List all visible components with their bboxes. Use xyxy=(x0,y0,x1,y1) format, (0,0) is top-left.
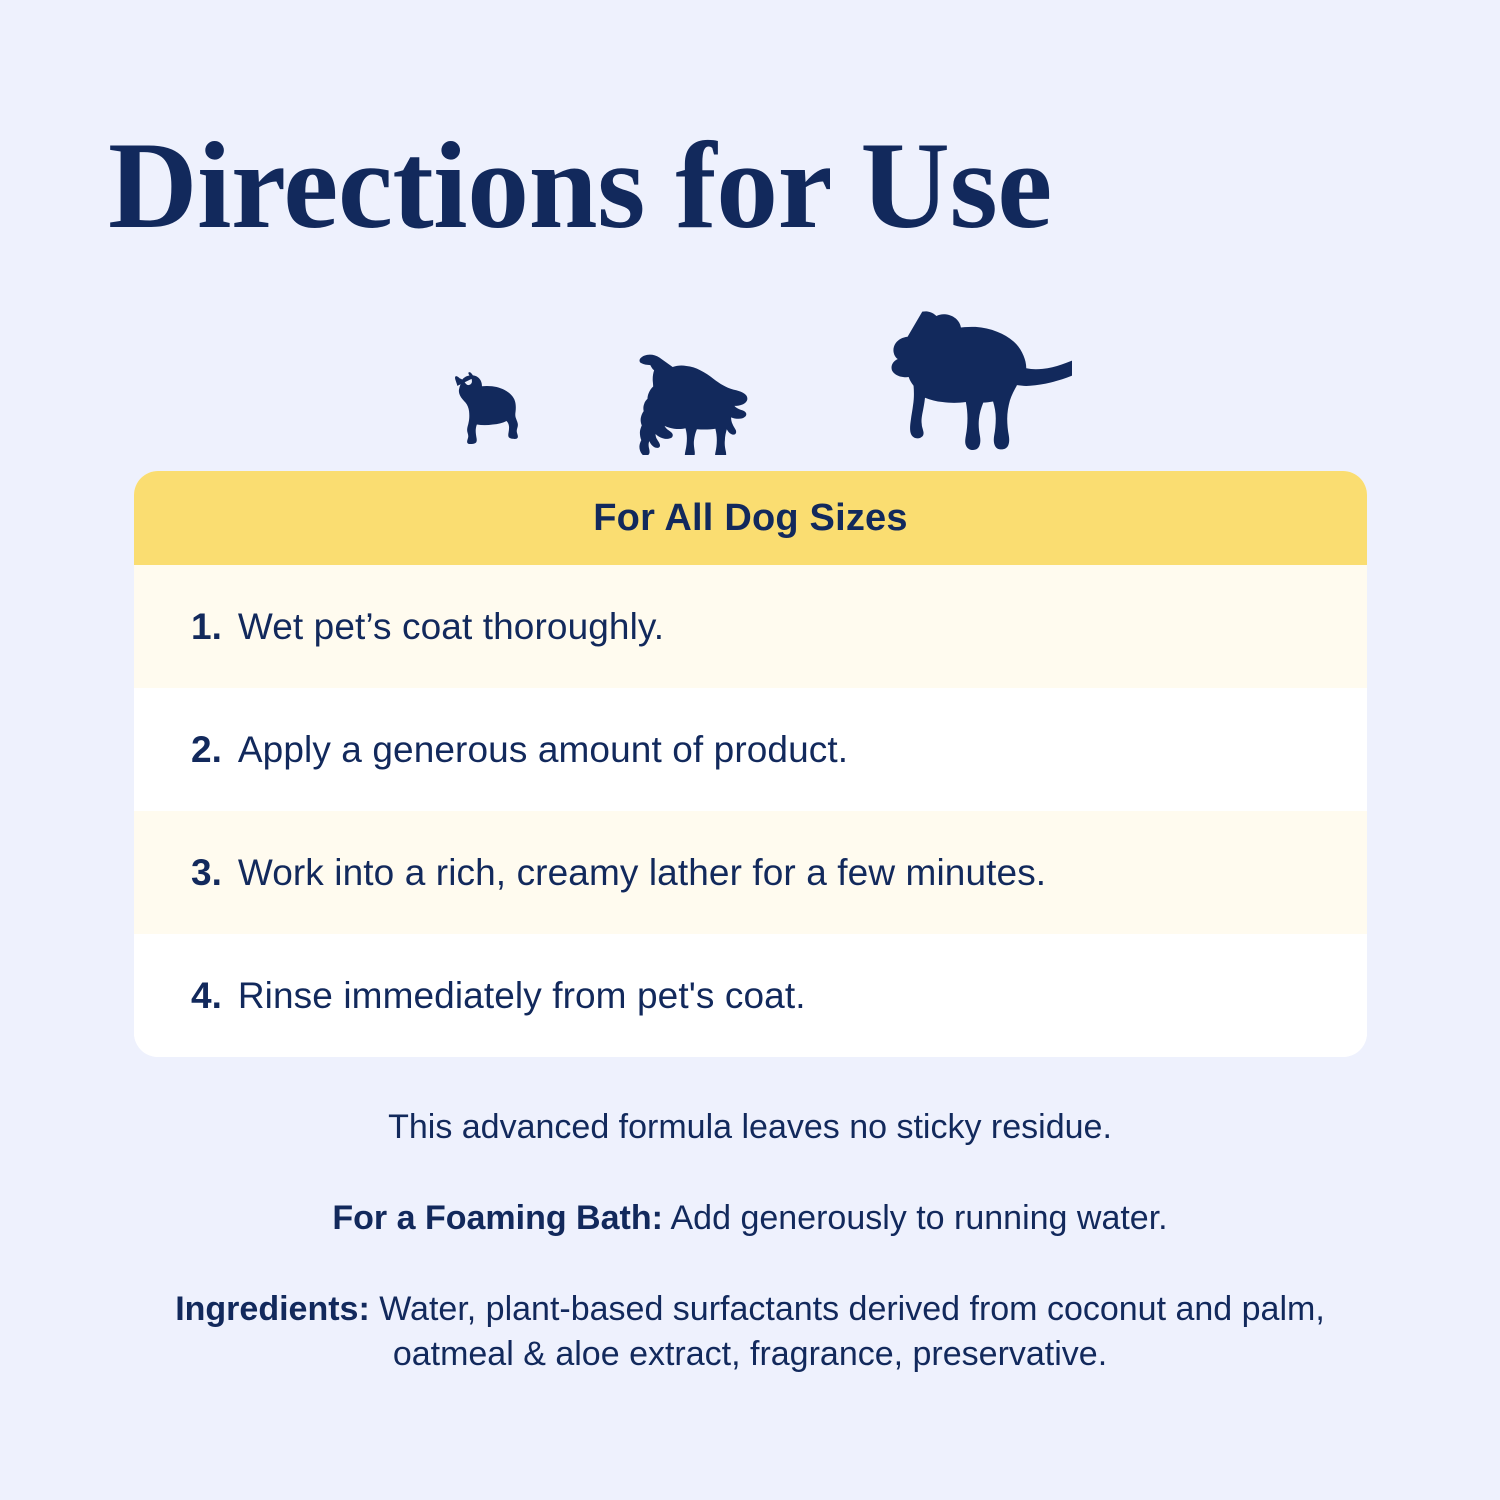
page-title: Directions for Use xyxy=(108,124,1052,248)
foaming-bath-label: For a Foaming Bath: xyxy=(332,1199,663,1237)
step-number: 1. xyxy=(191,606,222,648)
card-header-label: For All Dog Sizes xyxy=(593,497,907,540)
step-number: 4. xyxy=(191,975,222,1017)
step-number: 3. xyxy=(191,852,222,894)
large-dog-silhouette xyxy=(876,311,1072,455)
ingredients-text: Water, plant-based surfactants derived f… xyxy=(370,1290,1325,1373)
step-number: 2. xyxy=(191,729,222,771)
directions-for-use-panel: Directions for Use For All Dog Sizes 1. … xyxy=(0,0,1500,1500)
dog-sizes-card: For All Dog Sizes 1. Wet pet’s coat thor… xyxy=(134,471,1367,1057)
foaming-bath-text: Add generously to running water. xyxy=(663,1199,1168,1237)
residue-note: This advanced formula leaves no sticky r… xyxy=(0,1105,1500,1150)
foaming-bath-note: For a Foaming Bath: Add generously to ru… xyxy=(0,1196,1500,1241)
steps-list: 1. Wet pet’s coat thoroughly. 2. Apply a… xyxy=(134,565,1367,1057)
step-row: 2. Apply a generous amount of product. xyxy=(134,688,1367,811)
step-row: 4. Rinse immediately from pet's coat. xyxy=(134,934,1367,1057)
step-text: Wet pet’s coat thoroughly. xyxy=(238,606,664,648)
ingredients-label: Ingredients: xyxy=(175,1290,370,1328)
step-text: Work into a rich, creamy lather for a fe… xyxy=(238,852,1046,894)
card-header-band: For All Dog Sizes xyxy=(134,471,1367,565)
dog-size-illustrations xyxy=(0,305,1500,455)
step-text: Apply a generous amount of product. xyxy=(238,729,848,771)
medium-dog-silhouette xyxy=(628,335,780,455)
step-row: 1. Wet pet’s coat thoroughly. xyxy=(134,565,1367,688)
step-row: 3. Work into a rich, creamy lather for a… xyxy=(134,811,1367,934)
footer-notes: This advanced formula leaves no sticky r… xyxy=(0,1105,1500,1377)
ingredients-note: Ingredients: Water, plant-based surfacta… xyxy=(0,1287,1500,1377)
small-dog-silhouette xyxy=(428,371,532,455)
step-text: Rinse immediately from pet's coat. xyxy=(238,975,806,1017)
